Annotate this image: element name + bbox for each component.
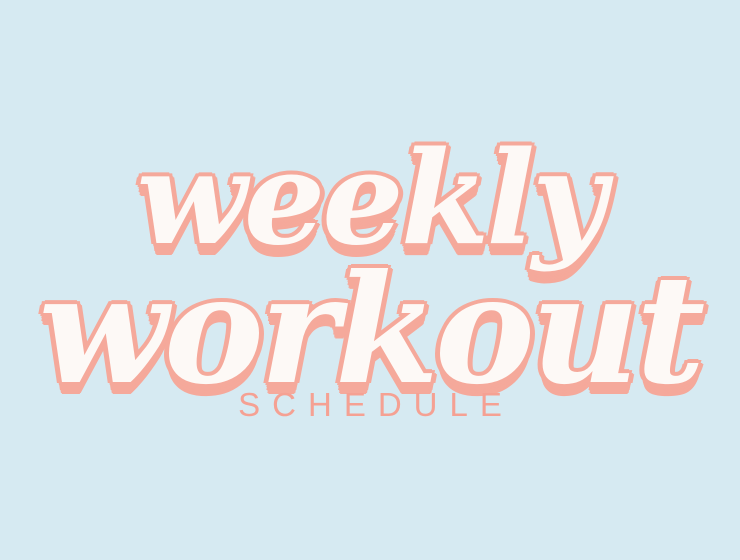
headline-block: weekly workout bbox=[0, 127, 740, 427]
headline-line-workout: workout bbox=[0, 255, 740, 405]
poster-canvas: weekly workout SCHEDULE bbox=[0, 0, 740, 560]
subtitle-schedule: SCHEDULE bbox=[0, 388, 740, 421]
